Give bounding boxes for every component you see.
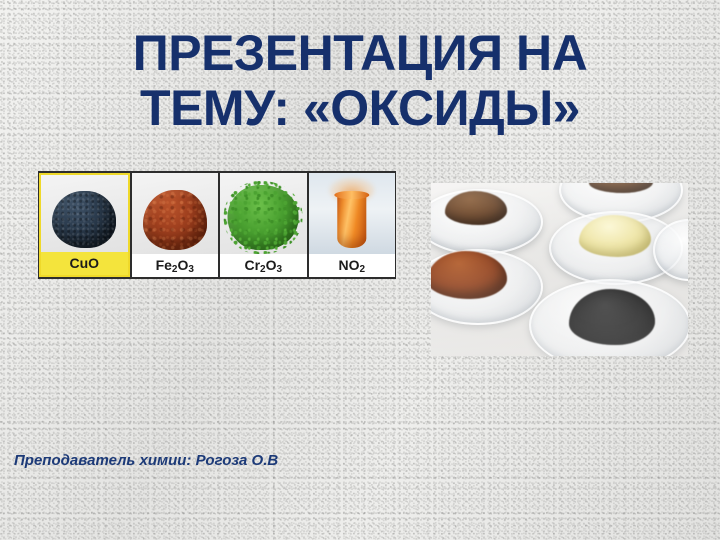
petri-powder-pale-yellow bbox=[579, 215, 651, 257]
page-title: ПРЕЗЕНТАЦИЯ НА ТЕМУ: «ОКСИДЫ» bbox=[0, 26, 720, 136]
fe2o3-powder-heap bbox=[143, 190, 207, 250]
cr2o3-subscript-2: 3 bbox=[276, 264, 282, 275]
oxide-sample-strip: CuO Fe2O3 Cr2O3 NO2 bbox=[38, 171, 396, 279]
no2-test-tube bbox=[337, 194, 366, 247]
no2-scene bbox=[309, 173, 396, 254]
title-line-2: ТЕМУ: «ОКСИДЫ» bbox=[0, 81, 720, 136]
fe2o3-formula-label: Fe2O3 bbox=[132, 254, 219, 277]
oxide-panel-cr2o3: Cr2O3 bbox=[220, 173, 307, 277]
oxide-panel-cuo: CuO bbox=[39, 173, 130, 277]
teacher-credit: Преподаватель химии: Рогоза О.В bbox=[14, 452, 278, 469]
cr2o3-formula-label: Cr2O3 bbox=[220, 254, 307, 277]
title-line-1: ПРЕЗЕНТАЦИЯ НА bbox=[0, 26, 720, 81]
cuo-powder-heap bbox=[52, 191, 116, 248]
cr2o3-oxygen-text: O bbox=[266, 257, 277, 273]
no2-subscript-1: 2 bbox=[359, 264, 365, 275]
fe2o3-subscript-2: 3 bbox=[188, 264, 194, 275]
oxide-panel-fe2o3: Fe2O3 bbox=[132, 173, 219, 277]
cuo-sample-photo bbox=[41, 175, 128, 252]
no2-formula-label: NO2 bbox=[309, 254, 396, 277]
cr2o3-powder-heap bbox=[228, 185, 299, 250]
cr2o3-sample-photo bbox=[220, 173, 307, 254]
no2-sample-photo bbox=[309, 173, 396, 254]
oxide-panel-no2: NO2 bbox=[309, 173, 396, 277]
cuo-formula-label: CuO bbox=[41, 252, 128, 275]
fe2o3-sample-photo bbox=[132, 173, 219, 254]
fe2o3-oxygen-text: O bbox=[177, 257, 188, 273]
cuo-formula-text: CuO bbox=[69, 255, 99, 271]
cr2o3-element-text: Cr bbox=[244, 257, 260, 273]
petri-dish-photo bbox=[431, 183, 688, 356]
fe2o3-element-text: Fe bbox=[156, 257, 172, 273]
no2-element-text: NO bbox=[338, 257, 359, 273]
petri-powder-dark-brown bbox=[445, 191, 507, 225]
